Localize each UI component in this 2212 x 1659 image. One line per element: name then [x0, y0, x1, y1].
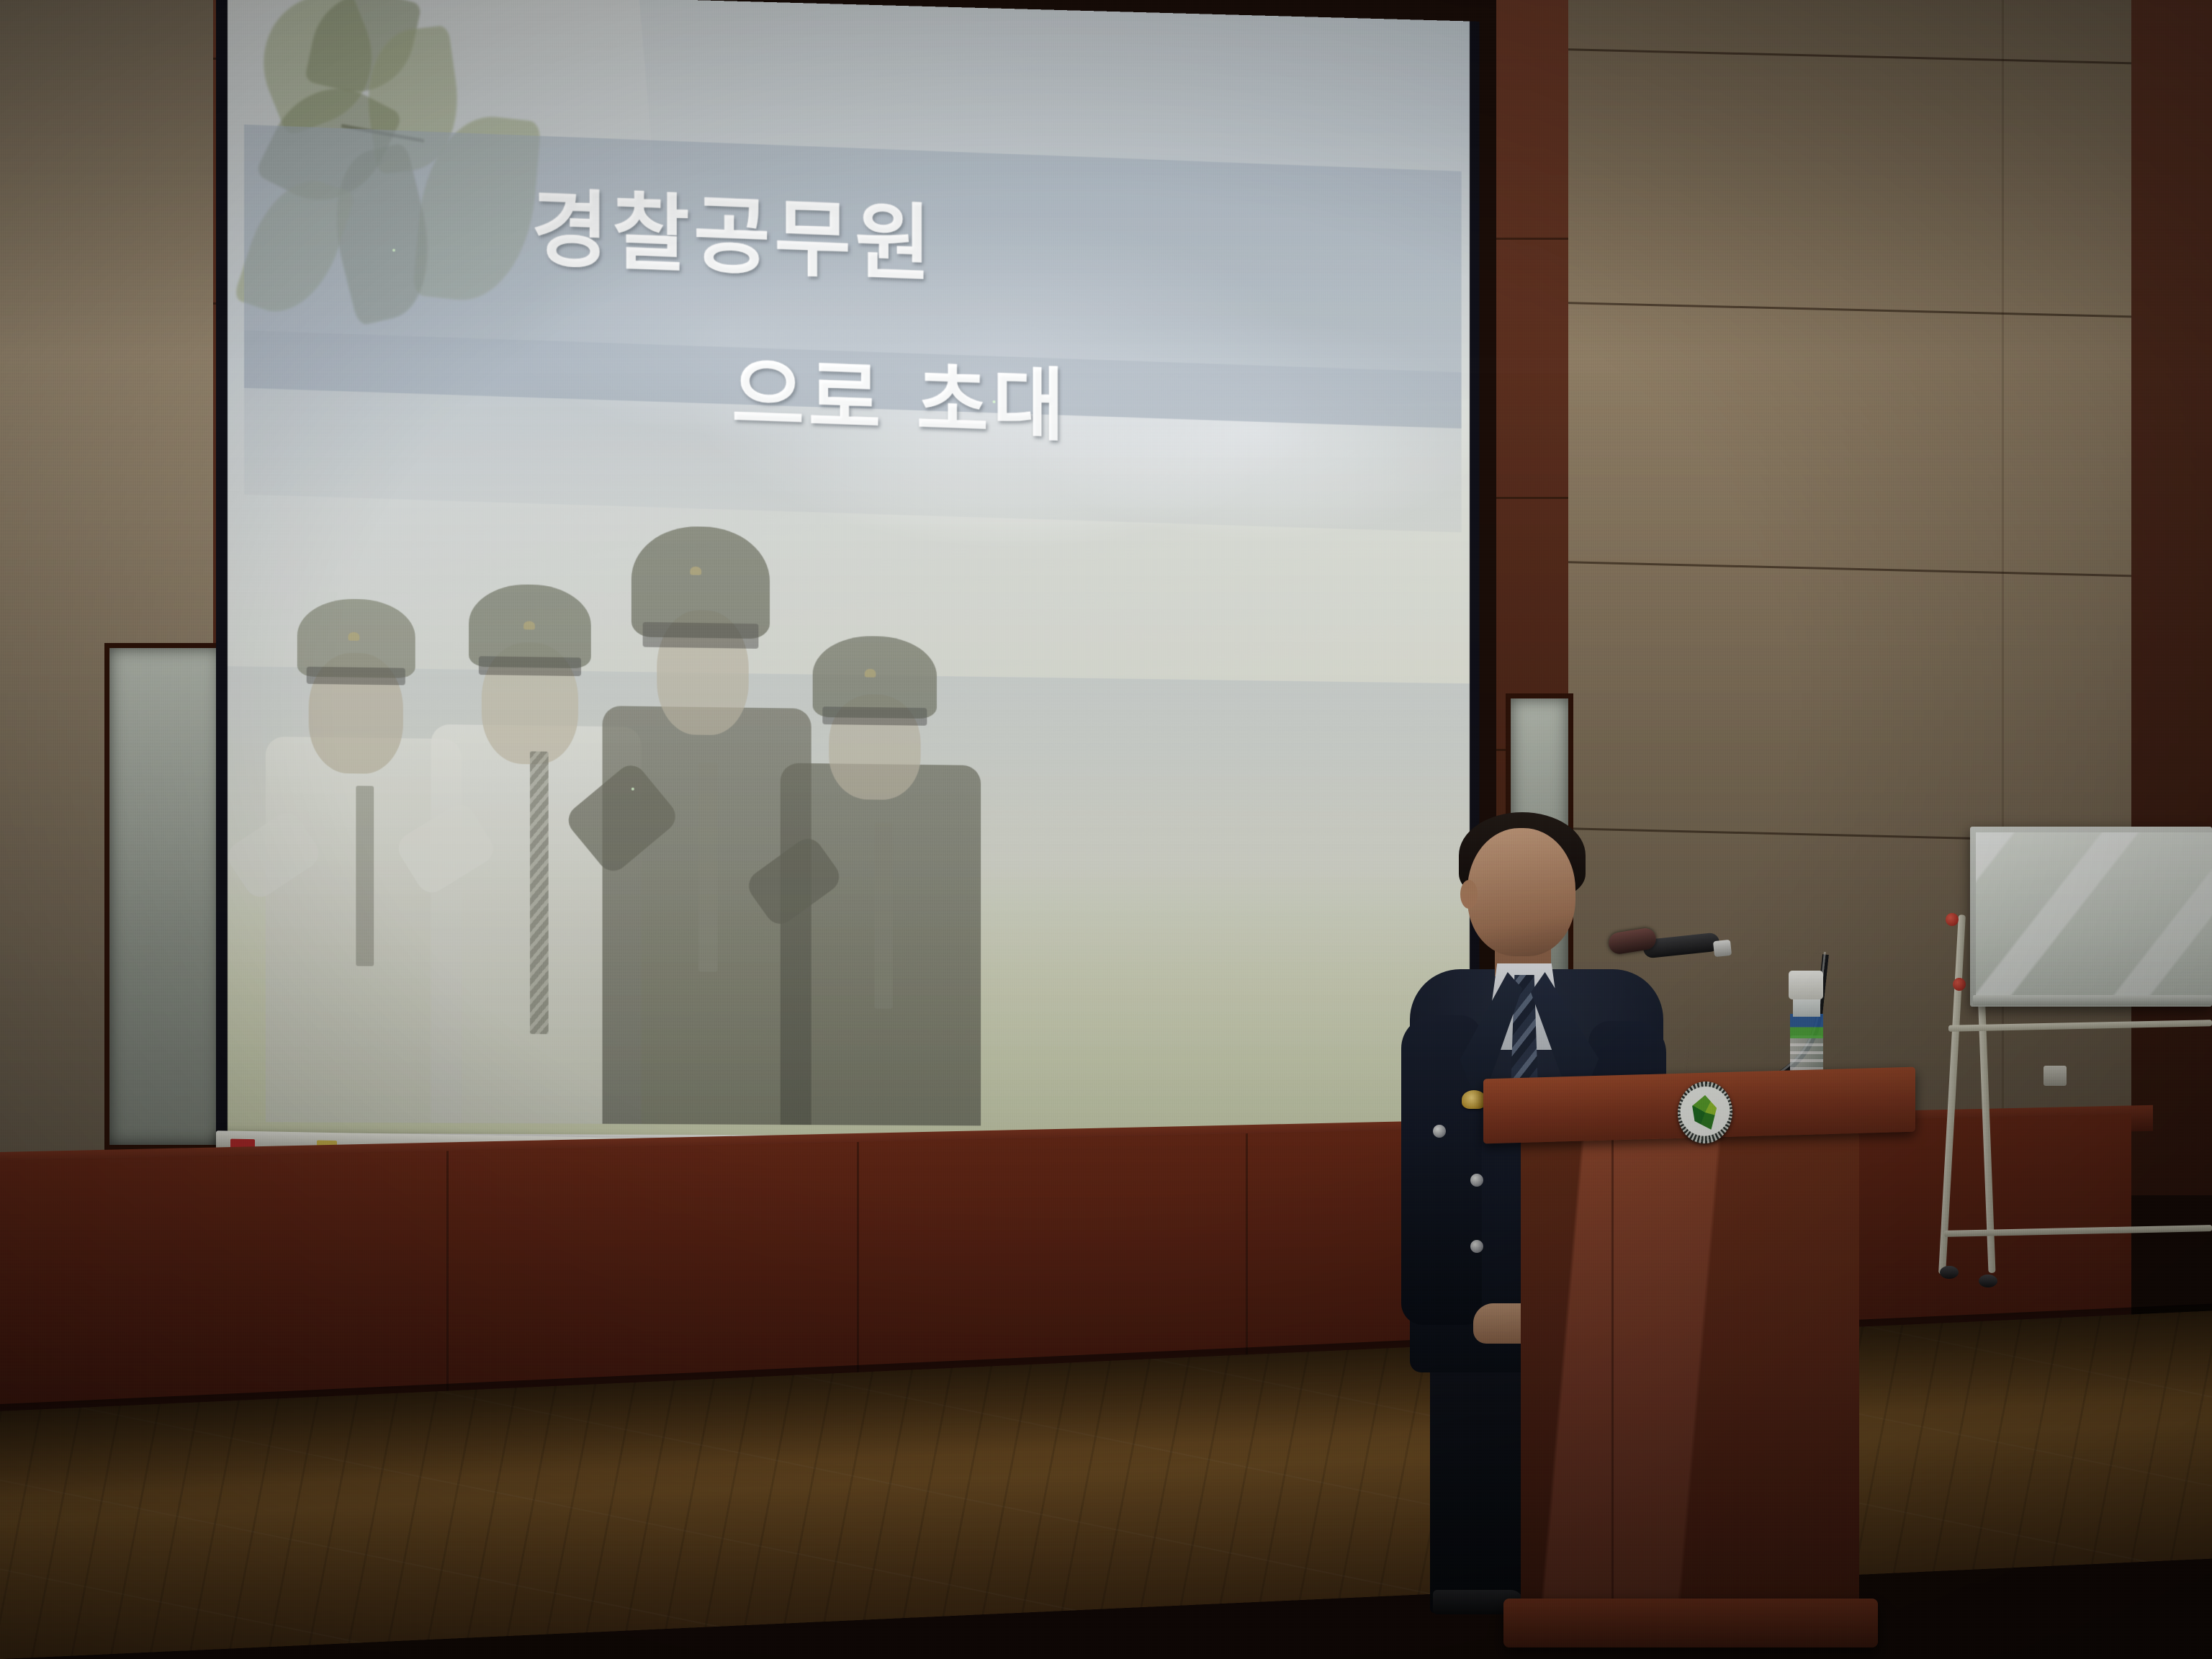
slide-title-line-1: 경찰공무원 — [531, 160, 935, 297]
mobile-whiteboard-easel[interactable] — [1931, 806, 2212, 1491]
bottle-cap — [1789, 971, 1823, 999]
speaker-face — [1467, 828, 1575, 956]
bottle-neck — [1793, 998, 1820, 1017]
podium-base — [1503, 1599, 1878, 1647]
easel-leg — [1938, 914, 1966, 1274]
easel-knob[interactable] — [1953, 978, 1966, 991]
auditorium-scene: 경찰공무원 으로 초대 — [0, 0, 2212, 1659]
easel-caster — [1979, 1274, 1997, 1287]
whiteboard-marker-tray[interactable] — [1973, 995, 2212, 1005]
wall-seam — [1563, 302, 2212, 320]
uniform-button — [1470, 1240, 1483, 1253]
podium-lectern — [1483, 1073, 1915, 1659]
collar-badge-icon — [1462, 1090, 1486, 1109]
whiteboard-surface[interactable] — [1976, 832, 2212, 998]
wall-seam — [1563, 48, 2212, 66]
bottle-label — [1790, 1014, 1823, 1038]
uniform-button — [1470, 1174, 1483, 1187]
easel-caster — [1940, 1266, 1959, 1279]
projection-screen-surface: 경찰공무원 으로 초대 — [228, 0, 1470, 1163]
easel-rail — [1948, 1020, 2212, 1032]
projection-screen-frame: 경찰공무원 으로 초대 — [216, 0, 1479, 1173]
wall-power-socket — [2044, 1066, 2067, 1086]
shoulder-pip — [1433, 1125, 1446, 1138]
wall-seam — [1563, 561, 2212, 579]
podium-seam — [1611, 1135, 1614, 1603]
podium-body — [1521, 1132, 1859, 1607]
slide-officers-photo — [266, 421, 1042, 1126]
recessed-wall-panel-left — [109, 648, 221, 1145]
easel-rail — [1944, 1225, 2212, 1237]
easel-knob[interactable] — [1946, 913, 1959, 926]
slide-officer-4 — [781, 541, 981, 1125]
speaker-ear — [1460, 880, 1478, 909]
microphone-collar — [1713, 940, 1732, 957]
